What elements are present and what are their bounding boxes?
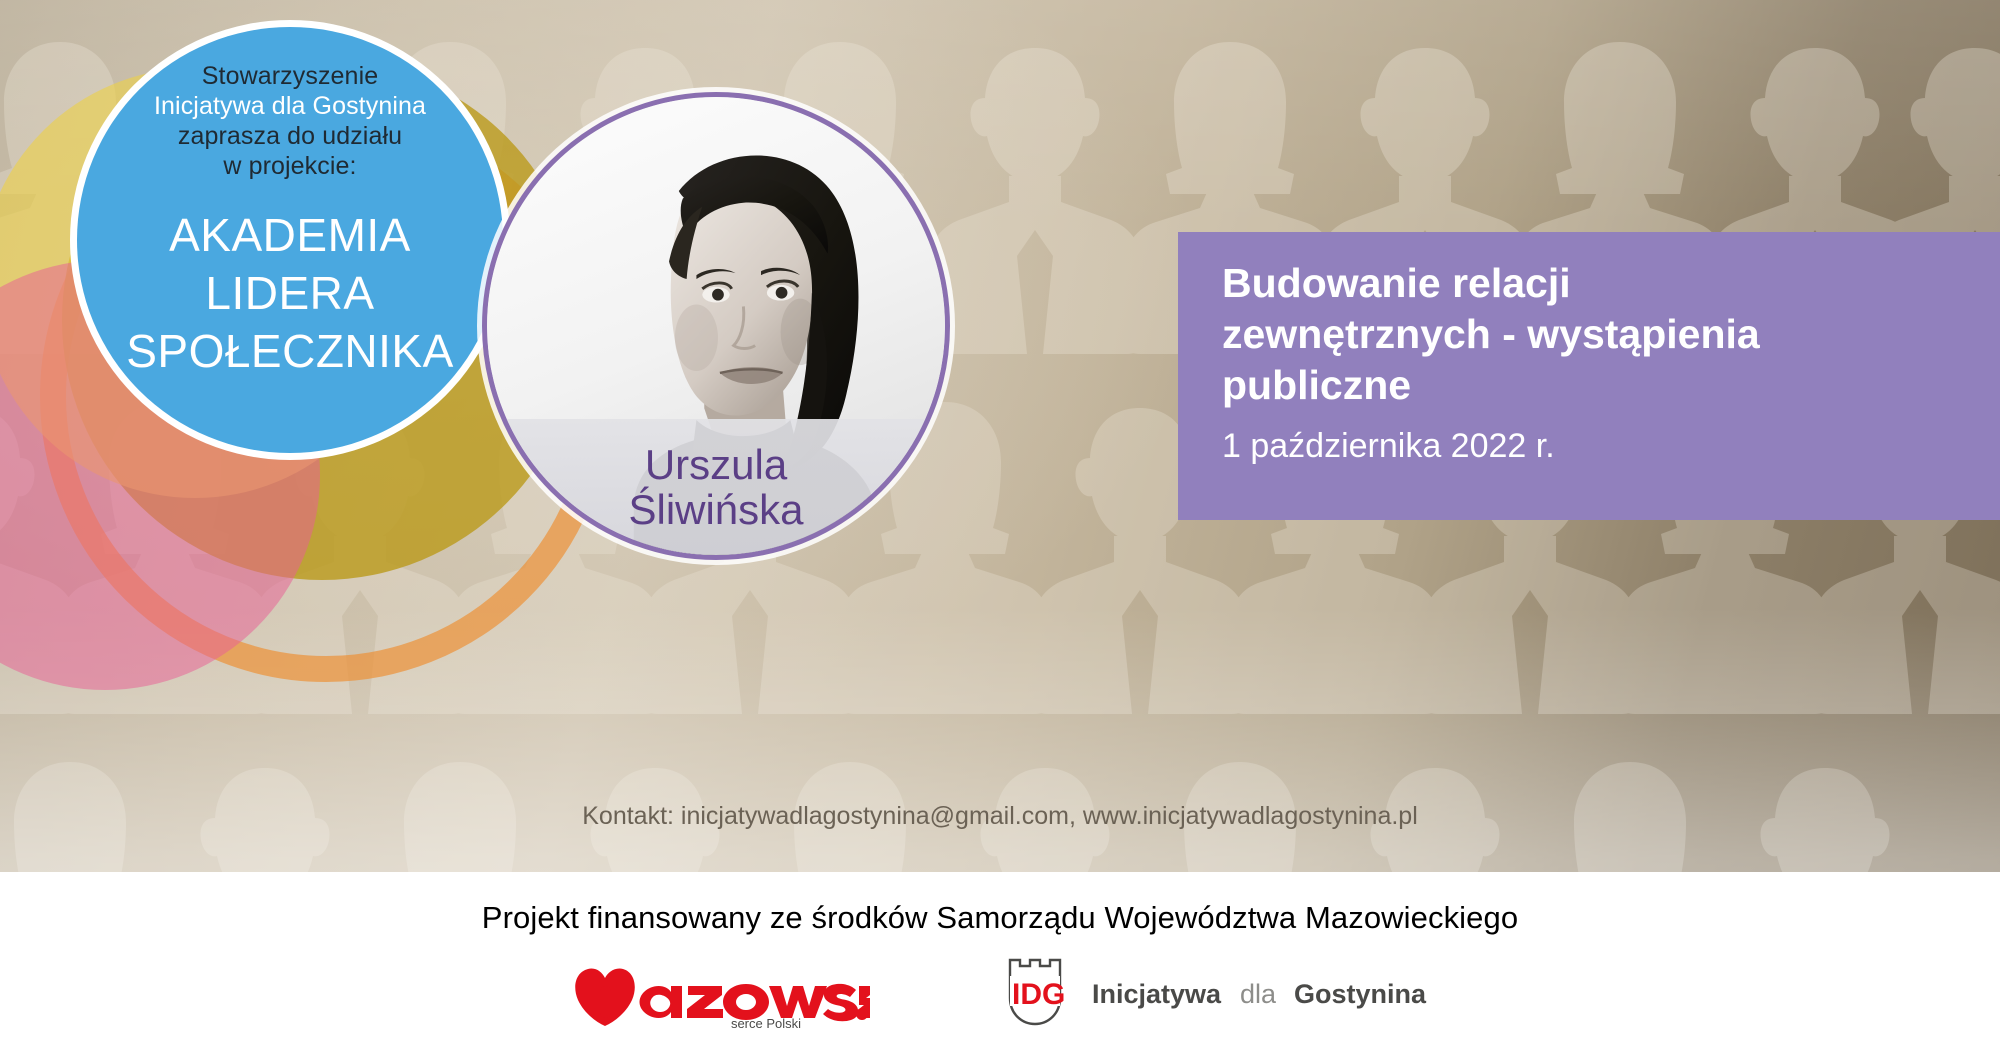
funding-statement: Projekt finansowany ze środków Samorządu…: [0, 872, 2000, 936]
speaker-portrait: Urszula Śliwińska: [482, 92, 950, 560]
invitation-intro: Stowarzyszenie Inicjatywa dla Gostynina …: [154, 61, 426, 181]
svg-text:Inicjatywa: Inicjatywa: [1092, 979, 1222, 1009]
promotional-banner: Stowarzyszenie Inicjatywa dla Gostynina …: [0, 0, 2000, 1047]
idg-logo: IDG Inicjatywa dla Gostynina: [1000, 956, 1430, 1030]
invitation-line-3: zaprasza do udziału: [154, 121, 426, 151]
topic-date: 1 października 2022 r.: [1222, 426, 1966, 467]
logo-row: serce Polski IDG Inicjatywa dla Gostynin…: [0, 956, 2000, 1030]
mazowsze-logo: serce Polski: [570, 956, 870, 1030]
project-title-line-2: LIDERA: [126, 265, 454, 323]
speaker-first-name: Urszula: [645, 442, 787, 487]
project-title-line-3: SPOŁECZNIKA: [126, 323, 454, 381]
speaker-nameplate: Urszula Śliwińska: [487, 419, 945, 555]
invitation-circle: Stowarzyszenie Inicjatywa dla Gostynina …: [70, 20, 510, 460]
svg-text:dla: dla: [1240, 979, 1277, 1009]
topic-title-line-3: publiczne: [1222, 360, 1966, 411]
invitation-line-2: Inicjatywa dla Gostynina: [154, 91, 426, 121]
topic-title-line-1: Budowanie relacji: [1222, 258, 1966, 309]
topic-box: Budowanie relacji zewnętrznych - wystąpi…: [1178, 232, 2000, 520]
footer: Projekt finansowany ze środków Samorządu…: [0, 872, 2000, 1047]
svg-text:Gostynina: Gostynina: [1294, 979, 1427, 1009]
invitation-line-1: Stowarzyszenie: [154, 61, 426, 91]
contact-line: Kontakt: inicjatywadlagostynina@gmail.co…: [0, 802, 2000, 831]
svg-text:IDG: IDG: [1012, 978, 1065, 1011]
invitation-line-4: w projekcie:: [154, 151, 426, 181]
project-title-line-1: AKADEMIA: [126, 207, 454, 265]
topic-title: Budowanie relacji zewnętrznych - wystąpi…: [1222, 258, 1966, 410]
speaker-last-name: Śliwińska: [628, 487, 803, 532]
project-title: AKADEMIA LIDERA SPOŁECZNIKA: [126, 207, 454, 381]
topic-title-line-2: zewnętrznych - wystąpienia: [1222, 309, 1966, 360]
svg-text:serce Polski: serce Polski: [731, 1016, 801, 1030]
